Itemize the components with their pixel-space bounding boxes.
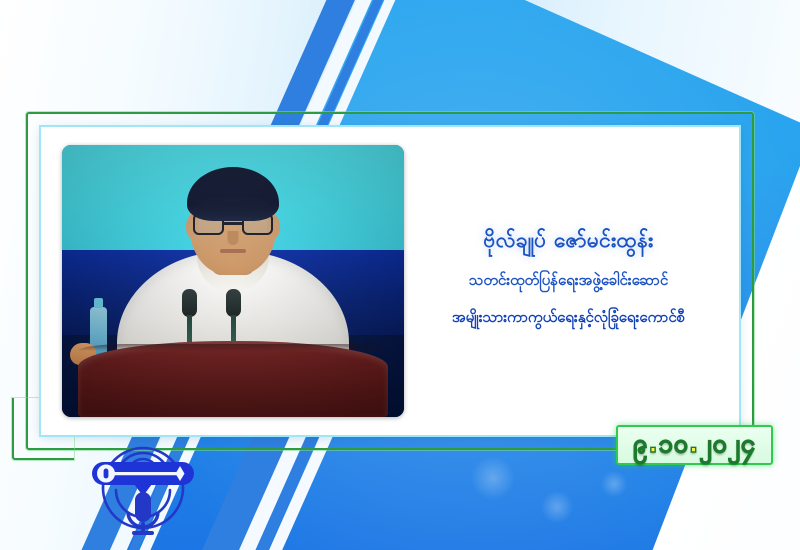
speaker-role: သတင်းထုတ်ပြန်ရေးအဖွဲ့ခေါင်းဆောင် bbox=[469, 270, 668, 291]
organization-name: အမျိုးသားကာကွယ်ရေးနှင့်လုံခြုံရေးကောင်စီ bbox=[452, 307, 685, 328]
background-bokeh-3 bbox=[600, 470, 628, 498]
podcast-microphone-logo bbox=[80, 432, 206, 536]
poster-stage: ဗိုလ်ချုပ် ဇော်မင်းထွန်း သတင်းထုတ်ပြန်ရေ… bbox=[0, 0, 800, 550]
speaker-photo bbox=[62, 145, 404, 417]
date-badge: ၉.၁၀.၂၀၂၄ bbox=[616, 425, 773, 465]
background-bokeh-1 bbox=[470, 455, 516, 501]
broadcast-info-card: ဗိုလ်ချုပ် ဇော်မင်းထွန်း သတင်းထုတ်ပြန်ရေ… bbox=[41, 127, 739, 435]
background-bokeh-2 bbox=[540, 490, 574, 524]
speaker-text-block: ဗိုလ်ချုပ် ဇော်မင်းထွန်း သတင်းထုတ်ပြန်ရေ… bbox=[404, 127, 739, 435]
photo-vignette bbox=[62, 145, 404, 417]
speaker-name: ဗိုလ်ချုပ် ဇော်မင်းထွန်း bbox=[483, 226, 653, 254]
